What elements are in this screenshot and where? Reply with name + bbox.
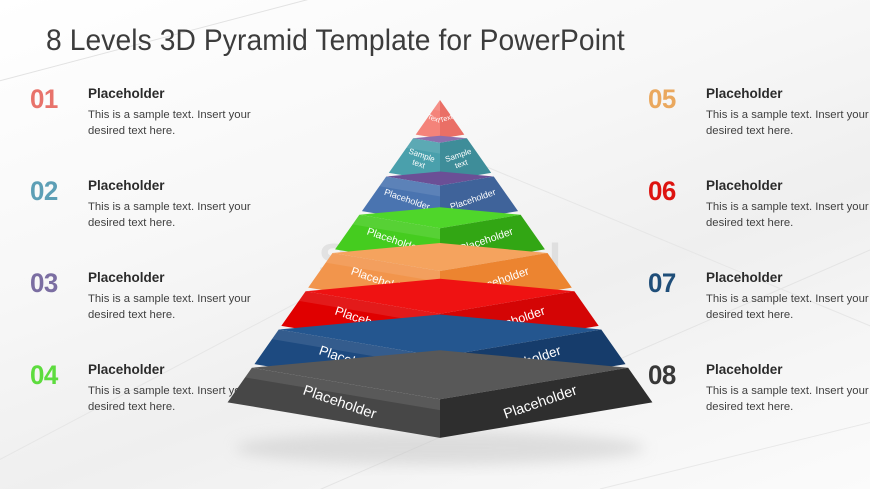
item-description: This is a sample text. Insert your desir… bbox=[706, 199, 870, 231]
page-title: 8 Levels 3D Pyramid Template for PowerPo… bbox=[46, 24, 625, 58]
list-item[interactable]: 05 Placeholder This is a sample text. In… bbox=[648, 86, 870, 178]
item-heading: Placeholder bbox=[706, 362, 870, 379]
item-body: Placeholder This is a sample text. Inser… bbox=[706, 270, 870, 323]
item-number-02: 02 bbox=[30, 178, 82, 205]
item-body: Placeholder This is a sample text. Inser… bbox=[706, 178, 870, 231]
pyramid-diagram[interactable]: SlideModel TextTextSampletextSampletextP… bbox=[205, 86, 675, 476]
item-body: Placeholder This is a sample text. Inser… bbox=[706, 362, 870, 415]
pyramid-tier-1[interactable]: TextText bbox=[416, 100, 465, 139]
tier-highlight-1 bbox=[433, 100, 440, 111]
item-number-01: 01 bbox=[30, 86, 82, 113]
item-heading: Placeholder bbox=[706, 270, 870, 287]
item-description: This is a sample text. Insert your desir… bbox=[706, 107, 870, 139]
item-heading: Placeholder bbox=[706, 178, 870, 195]
list-item[interactable]: 08 Placeholder This is a sample text. In… bbox=[648, 362, 870, 454]
bullet-column-right: 05 Placeholder This is a sample text. In… bbox=[648, 86, 870, 454]
slide-canvas: 8 Levels 3D Pyramid Template for PowerPo… bbox=[0, 0, 870, 489]
list-item[interactable]: 06 Placeholder This is a sample text. In… bbox=[648, 178, 870, 270]
item-number-04: 04 bbox=[30, 362, 82, 389]
item-heading: Placeholder bbox=[706, 86, 870, 103]
list-item[interactable]: 07 Placeholder This is a sample text. In… bbox=[648, 270, 870, 362]
pyramid-tiers: TextTextSampletextSampletextPlaceholderP… bbox=[228, 100, 653, 438]
item-number-03: 03 bbox=[30, 270, 82, 297]
item-description: This is a sample text. Insert your desir… bbox=[706, 291, 870, 323]
item-description: This is a sample text. Insert your desir… bbox=[706, 383, 870, 415]
item-body: Placeholder This is a sample text. Inser… bbox=[706, 86, 870, 139]
pyramid-svg: SlideModel TextTextSampletextSampletextP… bbox=[205, 86, 675, 476]
